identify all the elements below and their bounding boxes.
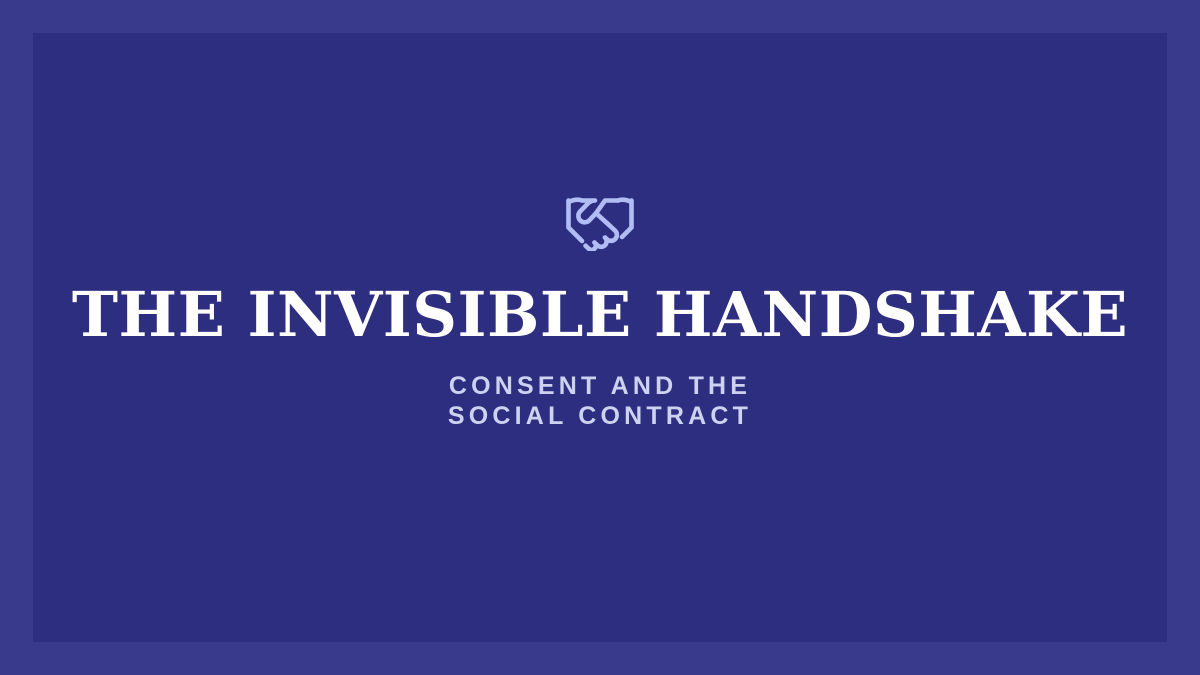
page-title: THE INVISIBLE HANDSHAKE — [72, 283, 1128, 346]
handshake-icon — [561, 191, 639, 251]
slide-content-stack: THE INVISIBLE HANDSHAKE CONSENT AND THE … — [33, 191, 1167, 431]
title-slide: THE INVISIBLE HANDSHAKE CONSENT AND THE … — [0, 0, 1200, 675]
slide-inner-panel: THE INVISIBLE HANDSHAKE CONSENT AND THE … — [33, 33, 1167, 642]
page-subtitle: CONSENT AND THE SOCIAL CONTRACT — [385, 371, 815, 432]
